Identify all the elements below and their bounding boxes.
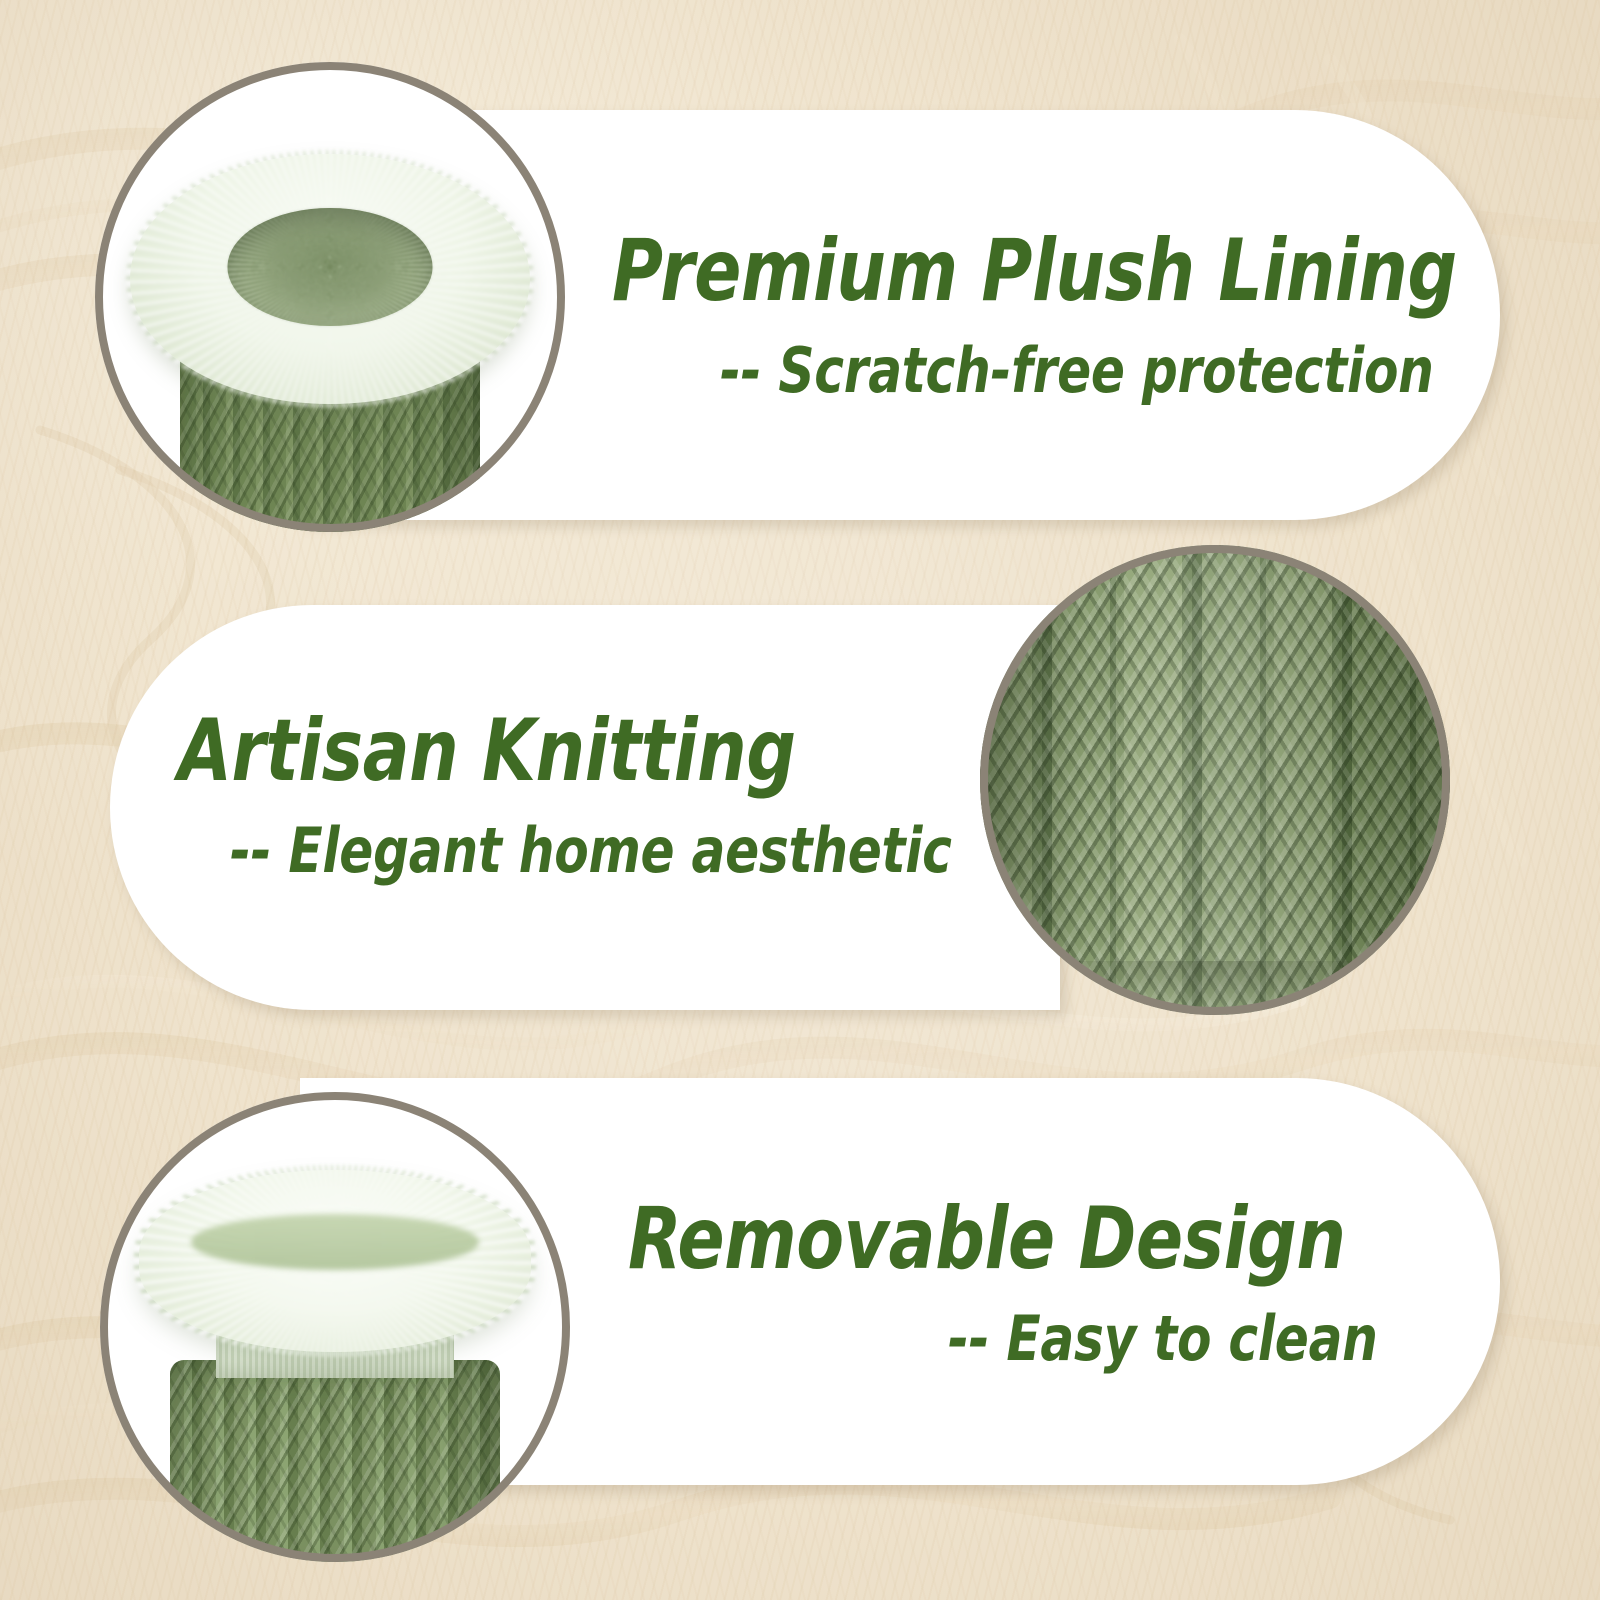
feature-headline-removable-design: Removable Design <box>628 1196 1346 1282</box>
knit-sock-outer <box>170 1360 500 1562</box>
feature-headline-artisan-knitting: Artisan Knitting <box>178 708 946 794</box>
feature-headline-plush-lining: Premium Plush Lining <box>612 228 1457 314</box>
feature-subline-removable-design: -- Easy to clean <box>948 1308 1378 1370</box>
infographic-canvas: Premium Plush Lining -- Scratch-free pro… <box>0 0 1600 1600</box>
herringbone-knit-texture <box>980 545 1450 1015</box>
fur-cuff-opening <box>228 208 433 326</box>
feature-text-artisan-knitting: Artisan Knitting -- Elegant home aesthet… <box>178 708 1032 882</box>
feature-photo-plush-lining <box>95 62 565 532</box>
feature-text-plush-lining: Premium Plush Lining -- Scratch-free pro… <box>612 228 1551 402</box>
feature-photo-removable-design <box>100 1092 570 1562</box>
fur-liner-band <box>191 1214 479 1270</box>
feature-text-removable-design: Removable Design -- Easy to clean <box>628 1196 1425 1370</box>
knit-drop-shadow <box>980 961 1450 1015</box>
feature-subline-artisan-knitting: -- Elegant home aesthetic <box>230 820 952 882</box>
feature-subline-plush-lining: -- Scratch-free protection <box>720 340 1468 402</box>
feature-photo-artisan-knitting <box>980 545 1450 1015</box>
